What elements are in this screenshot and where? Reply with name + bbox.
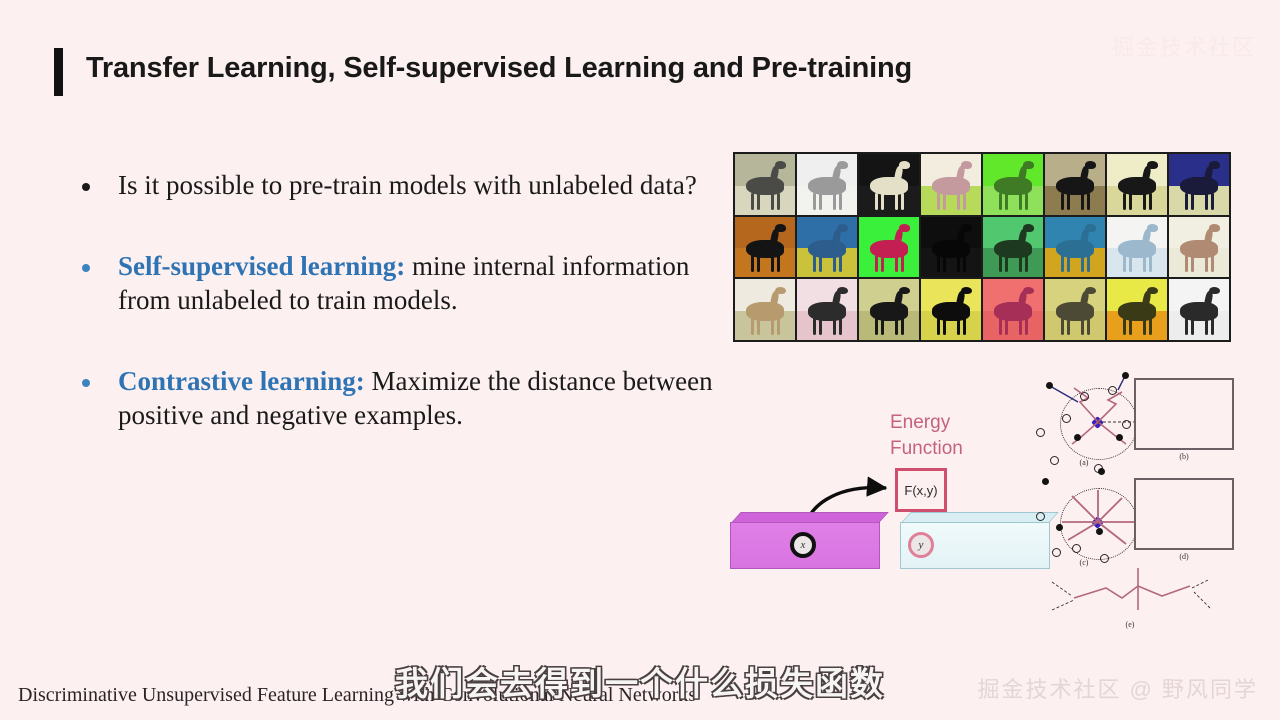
deer-silhouette (1149, 193, 1152, 210)
page-title: Transfer Learning, Self-supervised Learn… (86, 52, 1086, 85)
deer-silhouette (1061, 255, 1064, 272)
deer-silhouette (943, 193, 946, 210)
deer-silhouette (899, 224, 910, 232)
deer-silhouette (881, 255, 884, 272)
deer-silhouette (1025, 193, 1028, 210)
deer-silhouette (839, 318, 842, 335)
filled-node (1046, 382, 1053, 389)
energy-label-line2: Function (890, 436, 1010, 462)
deer-silhouette (895, 318, 898, 335)
deer-silhouette (1123, 318, 1126, 335)
deer-silhouette (963, 193, 966, 210)
deer-patch (797, 154, 857, 215)
deer-silhouette (1143, 193, 1146, 210)
deer-silhouette (1143, 318, 1146, 335)
deer-silhouette (757, 318, 760, 335)
deer-silhouette (961, 287, 972, 295)
deer-silhouette (1087, 255, 1090, 272)
deer-silhouette (875, 318, 878, 335)
deer-silhouette (775, 287, 786, 295)
deer-silhouette (901, 318, 904, 335)
deer-silhouette (881, 318, 884, 335)
open-node (1036, 512, 1045, 521)
deer-silhouette (813, 193, 816, 210)
deer-silhouette (1087, 318, 1090, 335)
deer-silhouette (1019, 318, 1022, 335)
deer-silhouette (751, 318, 754, 335)
figure-caption-b: (b) (1134, 452, 1234, 461)
deer-silhouette (1019, 193, 1022, 210)
energy-label-line1: Energy (890, 410, 1010, 436)
deer-silhouette (1129, 255, 1132, 272)
deer-silhouette (1085, 287, 1096, 295)
deer-silhouette (957, 193, 960, 210)
deer-silhouette (895, 255, 898, 272)
deer-silhouette (1147, 224, 1158, 232)
deer-silhouette (757, 255, 760, 272)
deer-silhouette (943, 318, 946, 335)
deer-silhouette (957, 318, 960, 335)
open-node (1080, 392, 1089, 401)
deer-silhouette (1209, 161, 1220, 169)
deer-silhouette (1205, 318, 1208, 335)
deer-silhouette (895, 193, 898, 210)
deer-patch (1169, 217, 1229, 278)
deer-silhouette (837, 287, 848, 295)
deer-silhouette (937, 255, 940, 272)
bullet-text-2: Self-supervised learning: mine internal … (118, 249, 738, 318)
filled-node (1056, 524, 1063, 531)
deer-patch (859, 154, 919, 215)
deer-silhouette (1025, 318, 1028, 335)
plot-panel-d (1134, 478, 1234, 550)
watermark-top-right: 掘金技术社区 (1112, 30, 1256, 62)
deer-silhouette (1129, 318, 1132, 335)
deer-silhouette (777, 318, 780, 335)
deer-patch (859, 279, 919, 340)
deer-silhouette (963, 255, 966, 272)
deer-silhouette (875, 255, 878, 272)
deer-silhouette (1067, 318, 1070, 335)
deer-patch (1107, 154, 1167, 215)
deer-patch (735, 279, 795, 340)
deer-silhouette (963, 318, 966, 335)
filled-node (1074, 434, 1081, 441)
deer-silhouette (901, 255, 904, 272)
deer-silhouette (937, 318, 940, 335)
filled-node (1096, 528, 1103, 535)
deer-silhouette (1081, 318, 1084, 335)
deer-silhouette (937, 193, 940, 210)
deer-silhouette (1019, 255, 1022, 272)
deer-patch (983, 217, 1043, 278)
deer-silhouette (1023, 161, 1034, 169)
deer-silhouette (961, 224, 972, 232)
deer-silhouette (771, 255, 774, 272)
deer-patch (921, 154, 981, 215)
deer-silhouette (1005, 255, 1008, 272)
deer-silhouette (1209, 224, 1220, 232)
deer-silhouette (875, 193, 878, 210)
filled-node (1042, 478, 1049, 485)
deer-silhouette (1025, 255, 1028, 272)
deer-silhouette (1211, 255, 1214, 272)
deer-silhouette (1081, 193, 1084, 210)
deer-silhouette (943, 255, 946, 272)
deer-patch (1045, 279, 1105, 340)
deer-silhouette (961, 161, 972, 169)
spring-model-figure: (a) (b) (c) (d) (e) (1022, 372, 1250, 634)
deer-silhouette (1067, 193, 1070, 210)
deer-silhouette (1205, 255, 1208, 272)
deer-silhouette (1023, 224, 1034, 232)
title-accent-bar (54, 48, 63, 96)
deer-patch (1045, 217, 1105, 278)
deer-silhouette (771, 318, 774, 335)
deer-silhouette (1123, 255, 1126, 272)
deer-silhouette (833, 255, 836, 272)
deer-silhouette (899, 287, 910, 295)
deer-silhouette (1129, 193, 1132, 210)
deer-silhouette (999, 193, 1002, 210)
deer-silhouette (777, 255, 780, 272)
deer-patch (1169, 279, 1229, 340)
deer-silhouette (881, 193, 884, 210)
filled-node (1122, 372, 1129, 379)
deer-silhouette (1191, 318, 1194, 335)
bullet-lead-3: Contrastive learning: (118, 366, 365, 396)
deer-silhouette (839, 255, 842, 272)
watermark-bottom-right: 掘金技术社区 @ 野风同学 (977, 672, 1258, 704)
bullet-text-3: Contrastive learning: Maximize the dista… (118, 364, 738, 433)
bullet-dot-icon (82, 183, 90, 191)
deer-silhouette (1061, 193, 1064, 210)
deer-silhouette (777, 193, 780, 210)
deer-silhouette (1081, 255, 1084, 272)
deer-patch (921, 279, 981, 340)
deer-silhouette (751, 193, 754, 210)
deer-silhouette (901, 193, 904, 210)
deer-silhouette (1211, 193, 1214, 210)
deer-silhouette (819, 193, 822, 210)
deer-patch (1045, 154, 1105, 215)
deer-silhouette (1123, 193, 1126, 210)
open-node (1062, 414, 1071, 423)
bullet-dot-icon (82, 379, 90, 387)
figure-caption-d: (d) (1134, 552, 1234, 561)
deer-silhouette (899, 161, 910, 169)
filled-node (1098, 468, 1105, 475)
deer-silhouette (1067, 255, 1070, 272)
deer-silhouette (819, 255, 822, 272)
deer-silhouette (813, 318, 816, 335)
deer-silhouette (1191, 193, 1194, 210)
deer-silhouette (1185, 318, 1188, 335)
deer-patch (1107, 279, 1167, 340)
deer-silhouette (1149, 255, 1152, 272)
open-node (1052, 548, 1061, 557)
deer-silhouette (1185, 193, 1188, 210)
deer-silhouette (1211, 318, 1214, 335)
figure-caption-c: (c) (1054, 558, 1114, 567)
deer-silhouette (1205, 193, 1208, 210)
deer-silhouette (999, 318, 1002, 335)
deer-patch (797, 279, 857, 340)
deer-silhouette (819, 318, 822, 335)
deer-silhouette (1085, 161, 1096, 169)
deer-silhouette (1147, 161, 1158, 169)
bullet-item-1: Is it possible to pre-train models with … (78, 168, 738, 203)
deer-silhouette (1149, 318, 1152, 335)
augmented-deer-image-grid (733, 152, 1231, 342)
open-node (1072, 544, 1081, 553)
deer-silhouette (837, 161, 848, 169)
energy-function-diagram: Energy Function x y F(x,y) (730, 400, 1000, 590)
deer-patch (983, 279, 1043, 340)
figure-caption-e: (e) (1100, 620, 1160, 629)
energy-function-box: F(x,y) (895, 468, 947, 512)
deer-patch (983, 154, 1043, 215)
open-node (1108, 386, 1117, 395)
deer-silhouette (1085, 224, 1096, 232)
deer-silhouette (839, 193, 842, 210)
deer-silhouette (1023, 287, 1034, 295)
deer-patch (735, 154, 795, 215)
deer-patch (797, 217, 857, 278)
plot-panel-b (1134, 378, 1234, 450)
deer-silhouette (1147, 287, 1158, 295)
deer-silhouette (1209, 287, 1220, 295)
deer-silhouette (1185, 255, 1188, 272)
deer-silhouette (775, 161, 786, 169)
deer-patch (921, 217, 981, 278)
deer-patch (1107, 217, 1167, 278)
open-node (1122, 420, 1131, 429)
bullet-dot-icon (82, 264, 90, 272)
deer-silhouette (751, 255, 754, 272)
deer-silhouette (1005, 193, 1008, 210)
deer-silhouette (757, 193, 760, 210)
bullet-item-3: Contrastive learning: Maximize the dista… (78, 364, 738, 433)
node-x: x (790, 532, 816, 558)
node-y: y (908, 532, 934, 558)
deer-silhouette (957, 255, 960, 272)
deer-silhouette (1061, 318, 1064, 335)
deer-silhouette (771, 193, 774, 210)
energy-function-label: Energy Function (890, 410, 1010, 461)
deer-patch (1169, 154, 1229, 215)
filled-node (1116, 434, 1123, 441)
bullet-lead-2: Self-supervised learning: (118, 251, 405, 281)
deer-silhouette (1191, 255, 1194, 272)
open-node (1036, 428, 1045, 437)
deer-silhouette (833, 318, 836, 335)
deer-silhouette (999, 255, 1002, 272)
deer-patch (859, 217, 919, 278)
deer-silhouette (1005, 318, 1008, 335)
deer-patch (735, 217, 795, 278)
deer-silhouette (813, 255, 816, 272)
deer-silhouette (837, 224, 848, 232)
deer-silhouette (833, 193, 836, 210)
deer-silhouette (775, 224, 786, 232)
bullet-list: Is it possible to pre-train models with … (78, 168, 738, 469)
deer-silhouette (1087, 193, 1090, 210)
bullet-text-1: Is it possible to pre-train models with … (118, 168, 697, 203)
figure-caption-a: (a) (1054, 458, 1114, 467)
bullet-item-2: Self-supervised learning: mine internal … (78, 249, 738, 318)
deer-silhouette (1143, 255, 1146, 272)
